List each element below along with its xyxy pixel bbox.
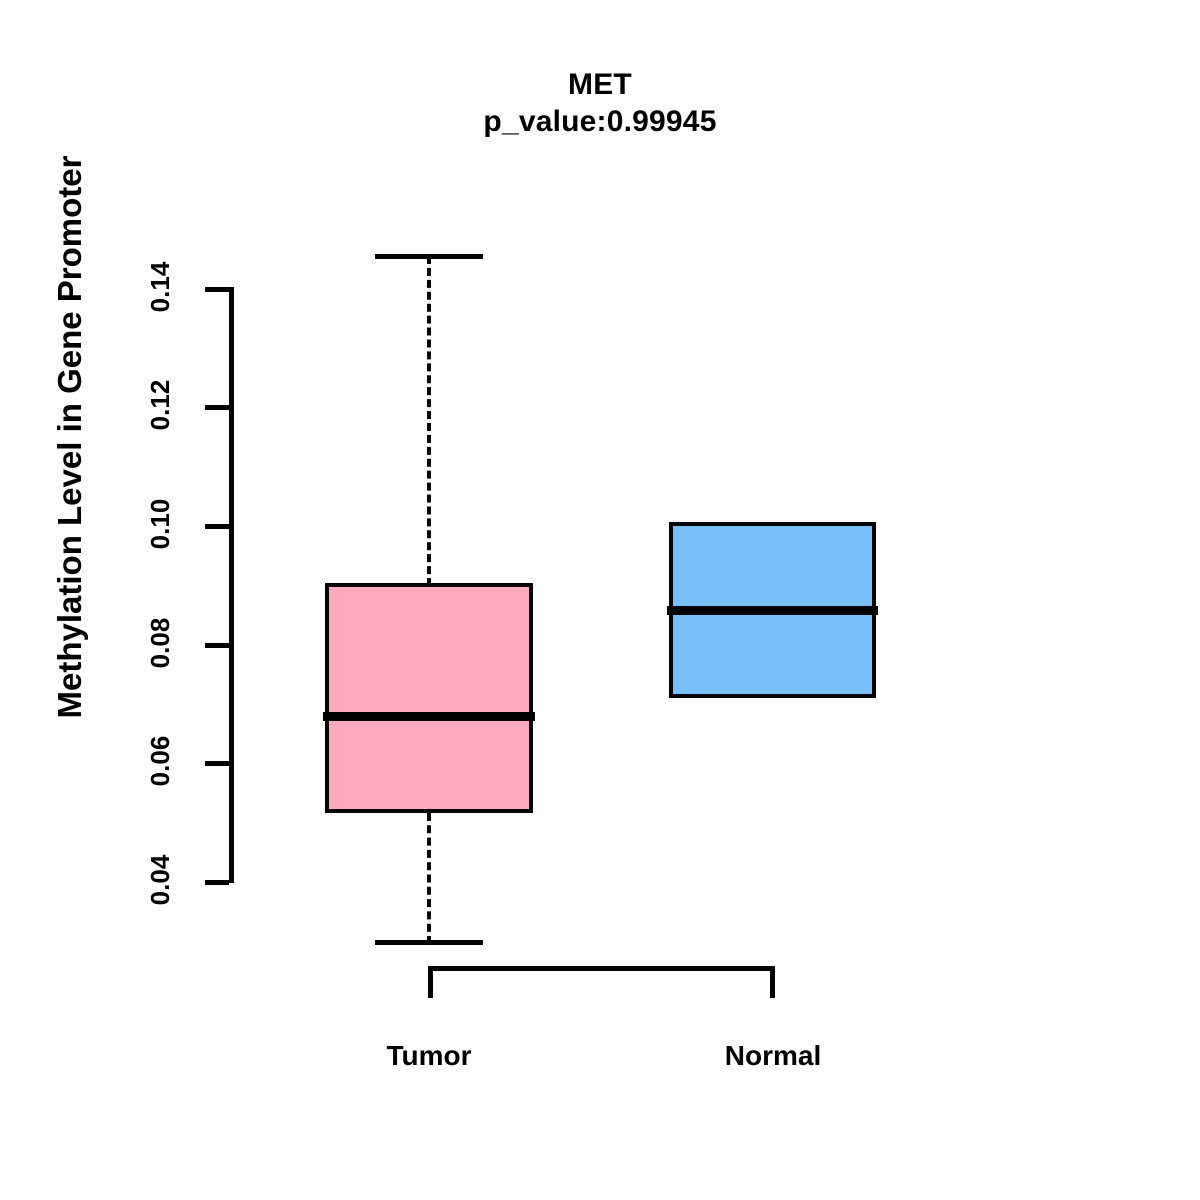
x-tick-mark-normal: [770, 966, 775, 998]
chart-subtitle-pvalue: p_value:0.99945: [0, 102, 1200, 142]
y-tick-mark-0.04: [205, 880, 229, 885]
y-tick-label-0.14: 0.14: [145, 227, 175, 347]
tumor-lower-whisker-cap: [375, 940, 483, 945]
y-tick-label-0.08: 0.08: [145, 583, 175, 703]
y-tick-label-0.06: 0.06: [145, 701, 175, 821]
x-axis-line: [428, 966, 775, 971]
y-tick-mark-0.06: [205, 761, 229, 766]
normal-median-line: [667, 606, 878, 615]
y-tick-label-0.04: 0.04: [145, 820, 175, 940]
tumor-lower-whisker: [427, 813, 431, 944]
chart-title-block: MET p_value:0.99945: [0, 68, 1200, 142]
x-tick-mark-tumor: [428, 966, 433, 998]
y-axis-title: Methylation Level in Gene Promoter: [42, 22, 98, 852]
chart-title: MET: [0, 68, 1200, 102]
y-tick-mark-0.14: [205, 287, 229, 292]
tumor-box: [325, 583, 533, 813]
tumor-upper-whisker: [427, 256, 431, 586]
x-tick-label-tumor: Tumor: [279, 1038, 579, 1074]
tumor-median-line: [323, 712, 535, 721]
y-axis-line: [229, 287, 234, 883]
y-tick-mark-0.12: [205, 405, 229, 410]
y-tick-label-0.12: 0.12: [145, 345, 175, 465]
x-tick-label-normal: Normal: [623, 1038, 923, 1074]
y-tick-mark-0.08: [205, 643, 229, 648]
boxplot-figure: MET p_value:0.99945 Methylation Level in…: [0, 0, 1200, 1200]
y-tick-label-0.10: 0.10: [145, 464, 175, 584]
y-tick-mark-0.10: [205, 524, 229, 529]
tumor-upper-whisker-cap: [375, 254, 483, 259]
